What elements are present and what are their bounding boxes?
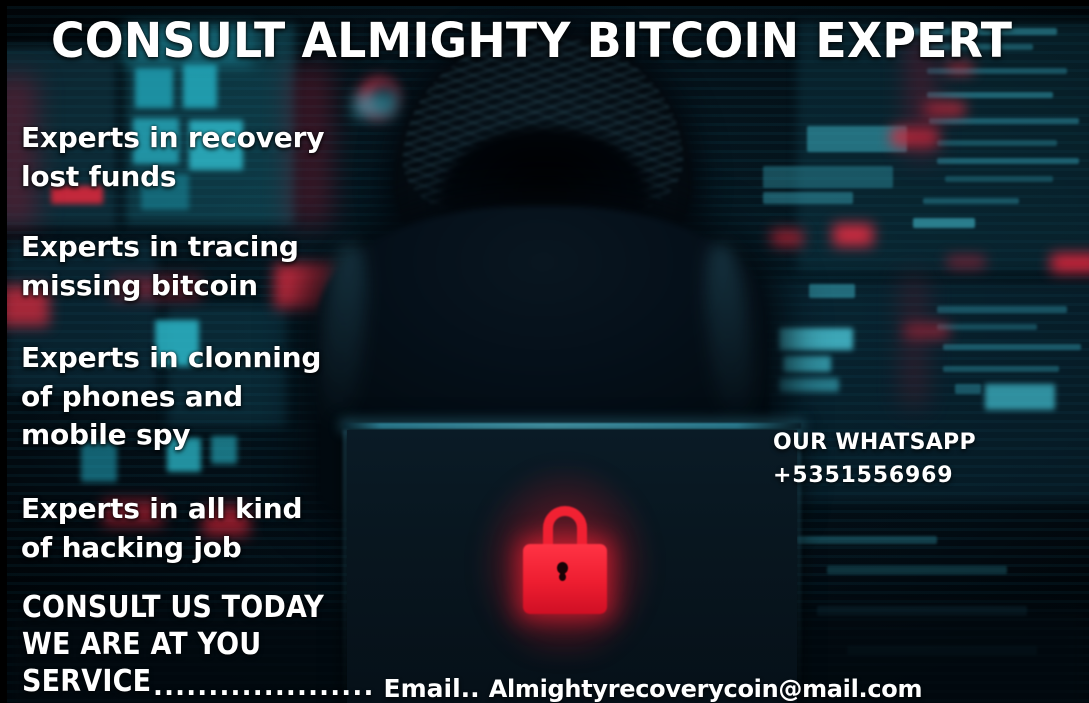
poster-canvas: CONSULT ALMIGHTY BITCOIN EXPERT Experts …	[0, 0, 1089, 703]
service-item-cloning: Experts in clonningof phones andmobile s…	[21, 339, 351, 455]
email-label: Email..	[384, 674, 480, 703]
service-item-tracing: Experts in tracingmissing bitcoin	[21, 228, 351, 305]
service-item-hacking: Experts in all kindof hacking job	[21, 490, 351, 567]
page-title: CONSULT ALMIGHTY BITCOIN EXPERT	[51, 17, 1089, 65]
email-address[interactable]: Almightyrecoverycoin@mail.com	[489, 675, 922, 703]
service-item-recovery: Experts in recoverylost funds	[21, 119, 351, 196]
poster-text-layer: CONSULT ALMIGHTY BITCOIN EXPERT Experts …	[7, 6, 1089, 703]
whatsapp-contact-block: OUR WHATSAPP +5351556969	[773, 426, 976, 492]
dotted-separator: ....................	[153, 672, 375, 702]
whatsapp-number[interactable]: +5351556969	[773, 459, 976, 492]
email-contact-block: .................... Email.. Almightyrec…	[153, 674, 922, 703]
whatsapp-label: OUR WHATSAPP	[773, 426, 976, 459]
